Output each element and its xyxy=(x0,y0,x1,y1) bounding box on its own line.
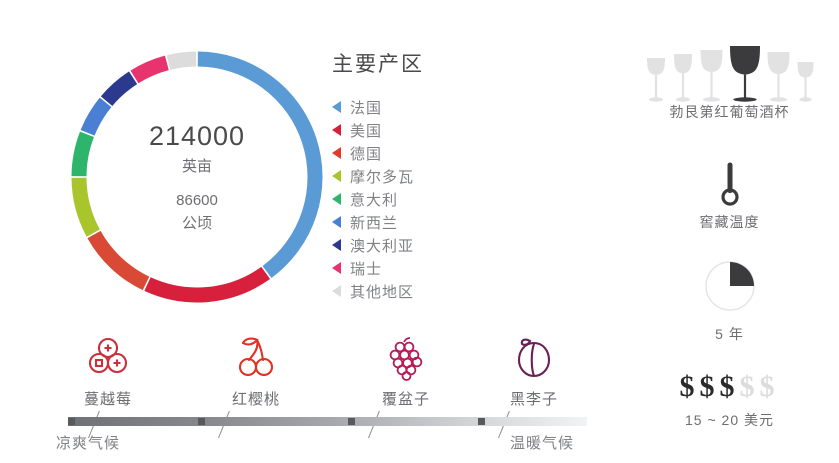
legend-marker-triangle-icon xyxy=(332,170,341,182)
wine-glass-icon-selected xyxy=(728,44,762,102)
donut-segment xyxy=(198,59,315,272)
legend-item-label: 其他地区 xyxy=(350,281,414,302)
quarter-pie-icon xyxy=(620,258,839,314)
legend-marker-triangle-icon xyxy=(332,101,341,113)
legend-item-label: 摩尔多瓦 xyxy=(350,166,414,187)
donut-segment xyxy=(94,235,146,284)
production-donut-chart xyxy=(62,42,332,312)
legend-marker-triangle-icon xyxy=(332,239,341,251)
legend-item[interactable]: 其他地区 xyxy=(332,280,522,302)
legend-item[interactable]: 意大利 xyxy=(332,188,522,210)
infographic-canvas: 214000 英亩 86600 公顷 主要产区 法国美国德国摩尔多瓦意大利新西兰… xyxy=(0,0,839,463)
scale-marker-dot xyxy=(348,418,355,425)
legend-rows: 法国美国德国摩尔多瓦意大利新西兰澳大利亚瑞士其他地区 xyxy=(332,96,522,302)
legend-marker-triangle-icon xyxy=(332,147,341,159)
scale-marker-dot xyxy=(478,418,485,425)
legend-item-label: 新西兰 xyxy=(350,212,398,233)
legend-item[interactable]: 美国 xyxy=(332,119,522,141)
scale-marker-dot xyxy=(198,418,205,425)
flavour-item-cherry: 红樱桃 xyxy=(181,330,331,409)
legend-item-label: 美国 xyxy=(350,120,382,141)
glassware-block: 勃艮第红葡萄酒杯 xyxy=(620,42,839,122)
legend-item[interactable]: 摩尔多瓦 xyxy=(332,165,522,187)
legend-marker-triangle-icon xyxy=(332,124,341,136)
glassware-caption: 勃艮第红葡萄酒杯 xyxy=(620,102,839,122)
flavour-item-cranberry: 蔓越莓 xyxy=(33,330,183,409)
legend-item[interactable]: 新西兰 xyxy=(332,211,522,233)
legend-item[interactable]: 德国 xyxy=(332,142,522,164)
legend: 主要产区 法国美国德国摩尔多瓦意大利新西兰澳大利亚瑞士其他地区 xyxy=(332,48,522,303)
climate-gradient-bar xyxy=(68,417,587,426)
legend-item-label: 瑞士 xyxy=(350,258,382,279)
legend-marker-triangle-icon xyxy=(332,262,341,274)
temperature-caption: 窖藏温度 xyxy=(620,212,839,232)
flavour-label: 蔓越莓 xyxy=(33,388,183,409)
legend-item-label: 德国 xyxy=(350,143,382,164)
cranberry-icon xyxy=(33,330,183,382)
plum-icon xyxy=(459,330,609,382)
legend-title: 主要产区 xyxy=(332,48,522,78)
donut-segment xyxy=(79,178,93,233)
wine-glass-icon xyxy=(795,60,816,102)
donut-segment xyxy=(148,273,266,295)
flavour-label: 红樱桃 xyxy=(181,388,331,409)
wine-glass-icon xyxy=(698,48,725,102)
donut-segment xyxy=(79,134,87,176)
donut-segment xyxy=(88,102,106,132)
donut-segment xyxy=(107,78,133,101)
legend-item[interactable]: 法国 xyxy=(332,96,522,118)
legend-marker-triangle-icon xyxy=(332,193,341,205)
thermometer-icon xyxy=(620,156,839,212)
legend-marker-triangle-icon xyxy=(332,285,341,297)
donut-segment xyxy=(168,59,196,63)
flavour-item-plum: 黑李子 xyxy=(459,330,609,409)
wine-glass-icon xyxy=(671,52,695,102)
flavour-label: 黑李子 xyxy=(459,388,609,409)
scale-marker-dot xyxy=(68,418,75,425)
donut-segments xyxy=(79,59,315,295)
cherry-icon xyxy=(181,330,331,382)
climate-label-warm: 温暖气候 xyxy=(510,432,574,453)
wine-glass-icon xyxy=(644,56,668,102)
temperature-block: 窖藏温度 xyxy=(620,156,839,232)
wine-glass-icons xyxy=(620,42,839,102)
legend-marker-triangle-icon xyxy=(332,216,341,228)
legend-item-label: 法国 xyxy=(350,97,382,118)
legend-item[interactable]: 澳大利亚 xyxy=(332,234,522,256)
legend-item-label: 意大利 xyxy=(350,189,398,210)
legend-item[interactable]: 瑞士 xyxy=(332,257,522,279)
donut-segment xyxy=(134,63,166,77)
wine-glass-icon xyxy=(765,50,792,102)
flavour-climate-scale: 蔓越莓 红樱桃 xyxy=(0,330,839,463)
legend-item-label: 澳大利亚 xyxy=(350,235,414,256)
climate-label-cool: 凉爽气候 xyxy=(56,432,120,453)
